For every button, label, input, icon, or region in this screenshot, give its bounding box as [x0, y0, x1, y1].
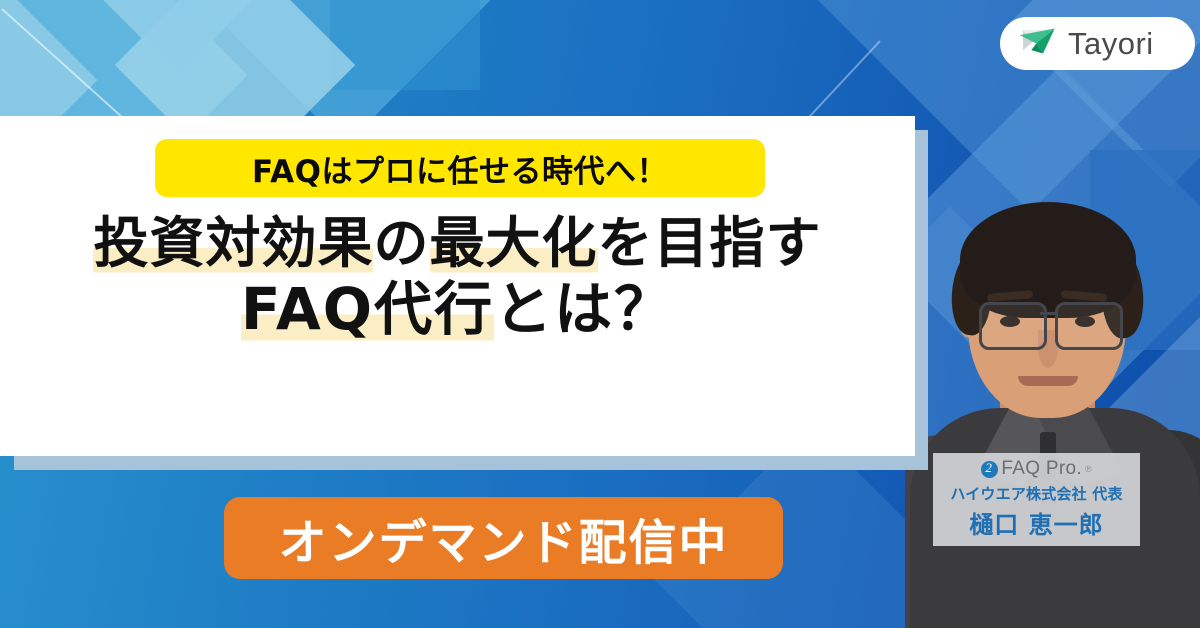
headline-highlight-segment: 投資対効果: [93, 211, 373, 275]
hair: [960, 202, 1136, 318]
glasses-bridge: [1040, 312, 1057, 315]
speaker-nameplate: FAQ Pro. ® ハイウエア株式会社 代表 樋口 恵一郎: [933, 453, 1140, 546]
tagline-badge: FAQはプロに任せる時代へ！: [155, 139, 765, 197]
tayori-logo[interactable]: Tayori: [1000, 17, 1195, 70]
headline-highlight-segment: FAQ代行: [241, 275, 494, 343]
headline-line-2: FAQ代行とは？: [0, 274, 915, 344]
tayori-logo-text: Tayori: [1068, 26, 1154, 62]
speaker-name: 樋口 恵一郎: [969, 505, 1103, 540]
speaker-company-role: ハイウエア株式会社 代表: [950, 483, 1122, 504]
faq-pro-logo: FAQ Pro. ®: [981, 458, 1091, 480]
headline-plain-segment: を目指す: [598, 211, 822, 275]
glasses-lens-right: [1055, 302, 1123, 350]
headline-plain-segment: の: [373, 211, 429, 275]
headline-line-1: 投資対効果の最大化を目指す: [0, 212, 915, 274]
on-demand-cta-button[interactable]: オンデマンド配信中: [224, 497, 783, 579]
faq-pro-swirl-icon: [981, 461, 998, 478]
glasses-lens-left: [979, 302, 1047, 350]
speaker-photo: [905, 180, 1200, 628]
headline-highlight-segment: 最大化: [430, 211, 598, 275]
headline-plain-segment: とは？: [494, 275, 674, 343]
envelope-paper-plane-icon: [1018, 25, 1058, 62]
page-title: 投資対効果の最大化を目指す FAQ代行とは？: [0, 212, 915, 344]
registered-mark-icon: ®: [1085, 464, 1092, 474]
on-demand-cta-label: オンデマンド配信中: [278, 503, 728, 573]
webinar-banner: FAQ Pro. ® ハイウエア株式会社 代表 樋口 恵一郎 FAQはプロに任せ…: [0, 0, 1200, 628]
faq-pro-logo-text: FAQ Pro.: [1001, 458, 1082, 480]
deco-triangle-left-6: [330, 0, 480, 90]
tagline-badge-text: FAQはプロに任せる時代へ！: [252, 146, 668, 191]
mouth: [1018, 376, 1078, 386]
